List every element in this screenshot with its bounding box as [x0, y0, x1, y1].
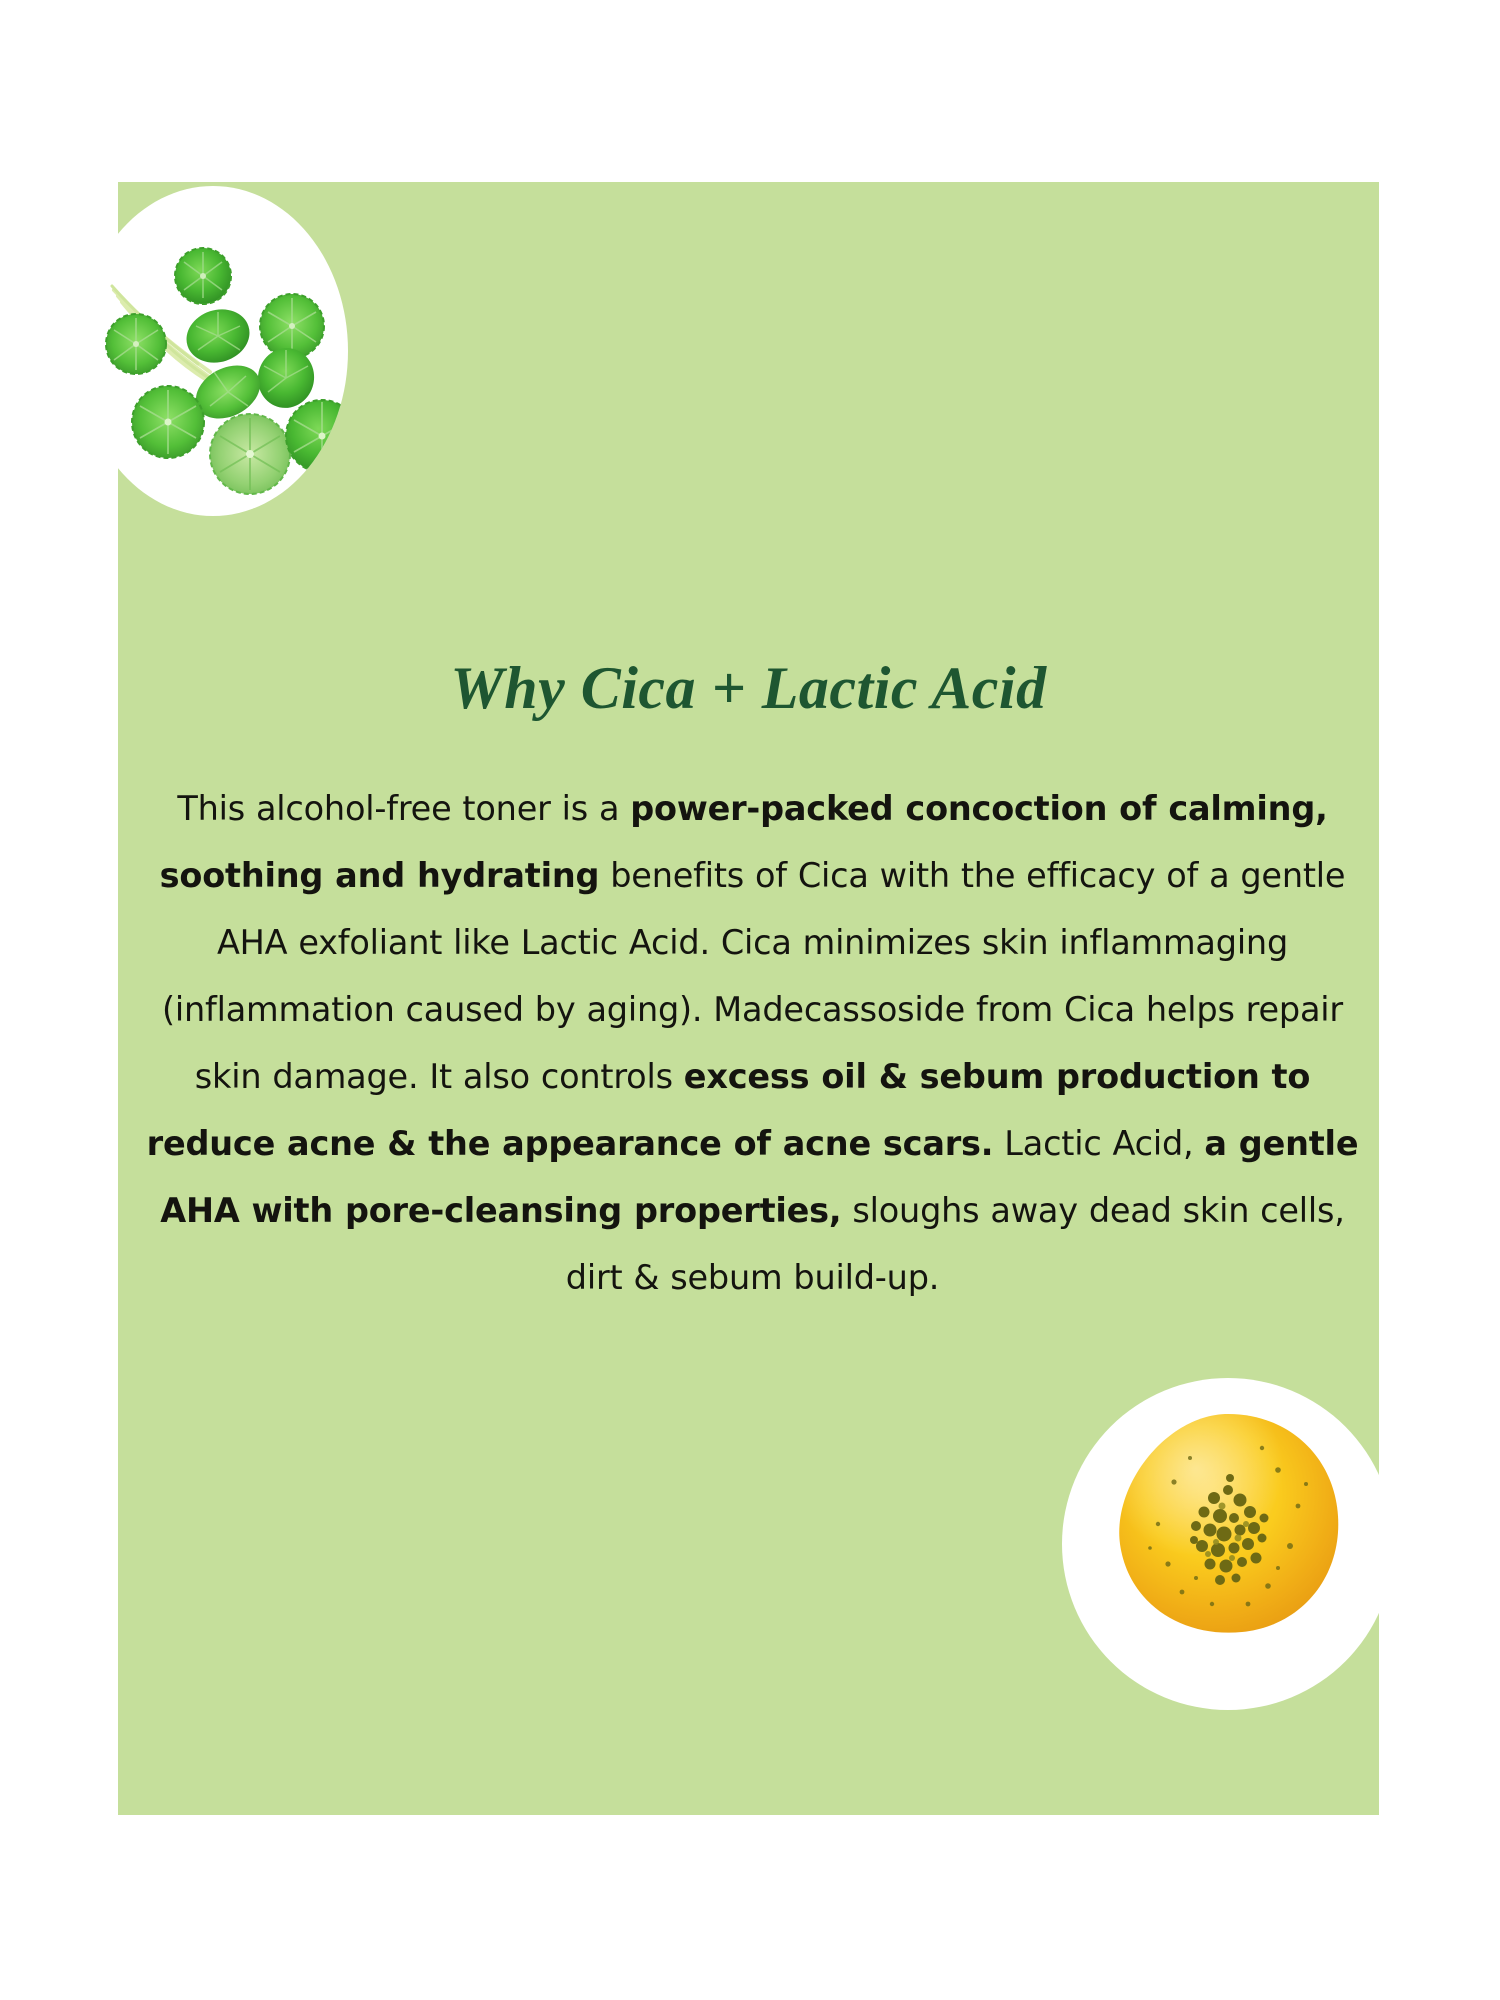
page-title: Why Cica + Lactic Acid	[118, 655, 1379, 721]
serum-droplet-icon	[1062, 1378, 1394, 1710]
body-segment-4: Lactic Acid,	[993, 1124, 1204, 1163]
poster-canvas: Why Cica + Lactic Acid This alcohol-free…	[0, 0, 1500, 2000]
cica-leaves-icon	[78, 186, 348, 516]
body-segment-0: This alcohol-free toner is a	[177, 789, 630, 828]
serum-droplet-circle	[1062, 1378, 1394, 1710]
cica-leaves-circle	[78, 186, 348, 516]
body-paragraph: This alcohol-free toner is a power-packe…	[140, 775, 1365, 1311]
